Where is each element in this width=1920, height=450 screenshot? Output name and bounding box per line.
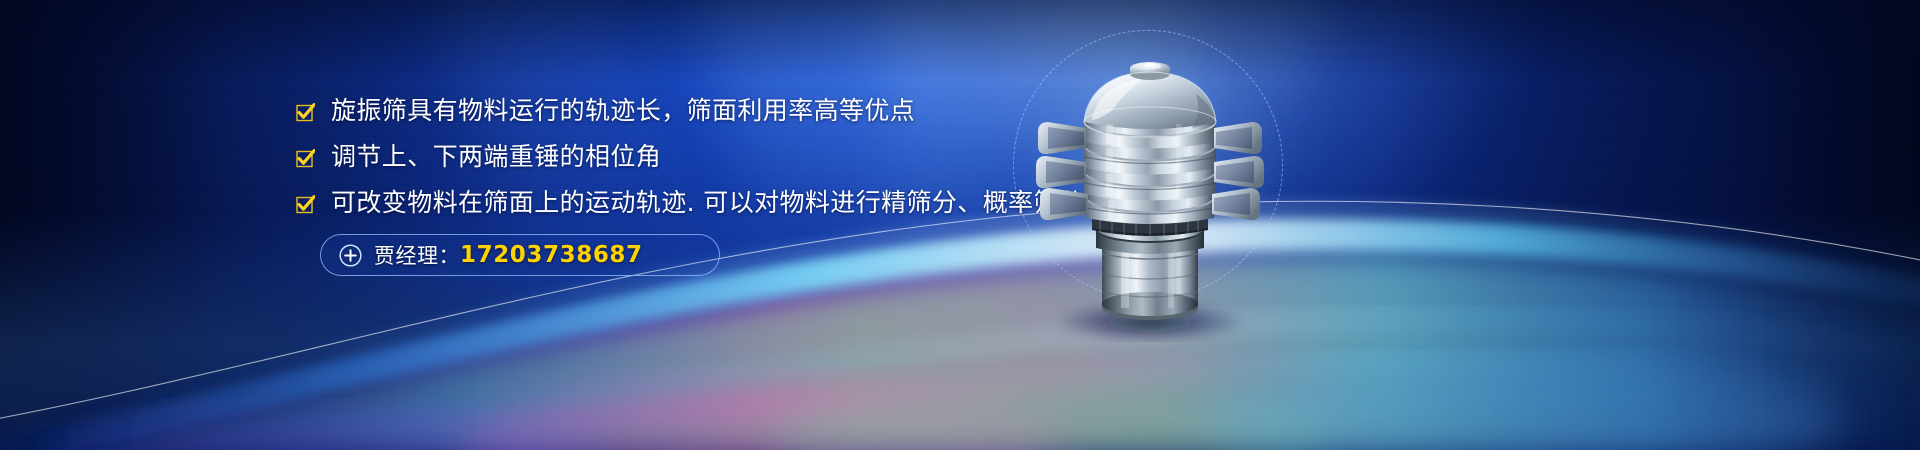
promo-banner: 旋振筛具有物料运行的轨迹长，筛面利用率高等优点 调节上、下两端重锤的相位角 可改…: [0, 0, 1920, 450]
list-item: 旋振筛具有物料运行的轨迹长，筛面利用率高等优点: [296, 96, 1056, 126]
feature-list: 旋振筛具有物料运行的轨迹长，筛面利用率高等优点 调节上、下两端重锤的相位角 可改…: [296, 96, 1056, 276]
list-item: 可改变物料在筛面上的运动轨迹. 可以对物料进行精筛分、概率筛分等: [296, 188, 1056, 218]
checkbox-checked-icon: [296, 195, 315, 214]
contact-phone-number: 17203738687: [460, 242, 643, 268]
contact-phone-button[interactable]: 贾经理： 17203738687: [320, 234, 720, 276]
list-item-label: 可改变物料在筛面上的运动轨迹. 可以对物料进行精筛分、概率筛分等: [331, 188, 1110, 218]
list-item-label: 调节上、下两端重锤的相位角: [331, 142, 661, 172]
checkbox-checked-icon: [296, 103, 315, 122]
list-item-label: 旋振筛具有物料运行的轨迹长，筛面利用率高等优点: [331, 96, 915, 126]
list-item: 调节上、下两端重锤的相位角: [296, 142, 1056, 172]
product-image-rotary-vibrating-sieve: [1000, 22, 1290, 342]
contact-name-label: 贾经理：: [374, 240, 460, 270]
plus-circle-icon: [339, 244, 362, 267]
checkbox-checked-icon: [296, 149, 315, 168]
